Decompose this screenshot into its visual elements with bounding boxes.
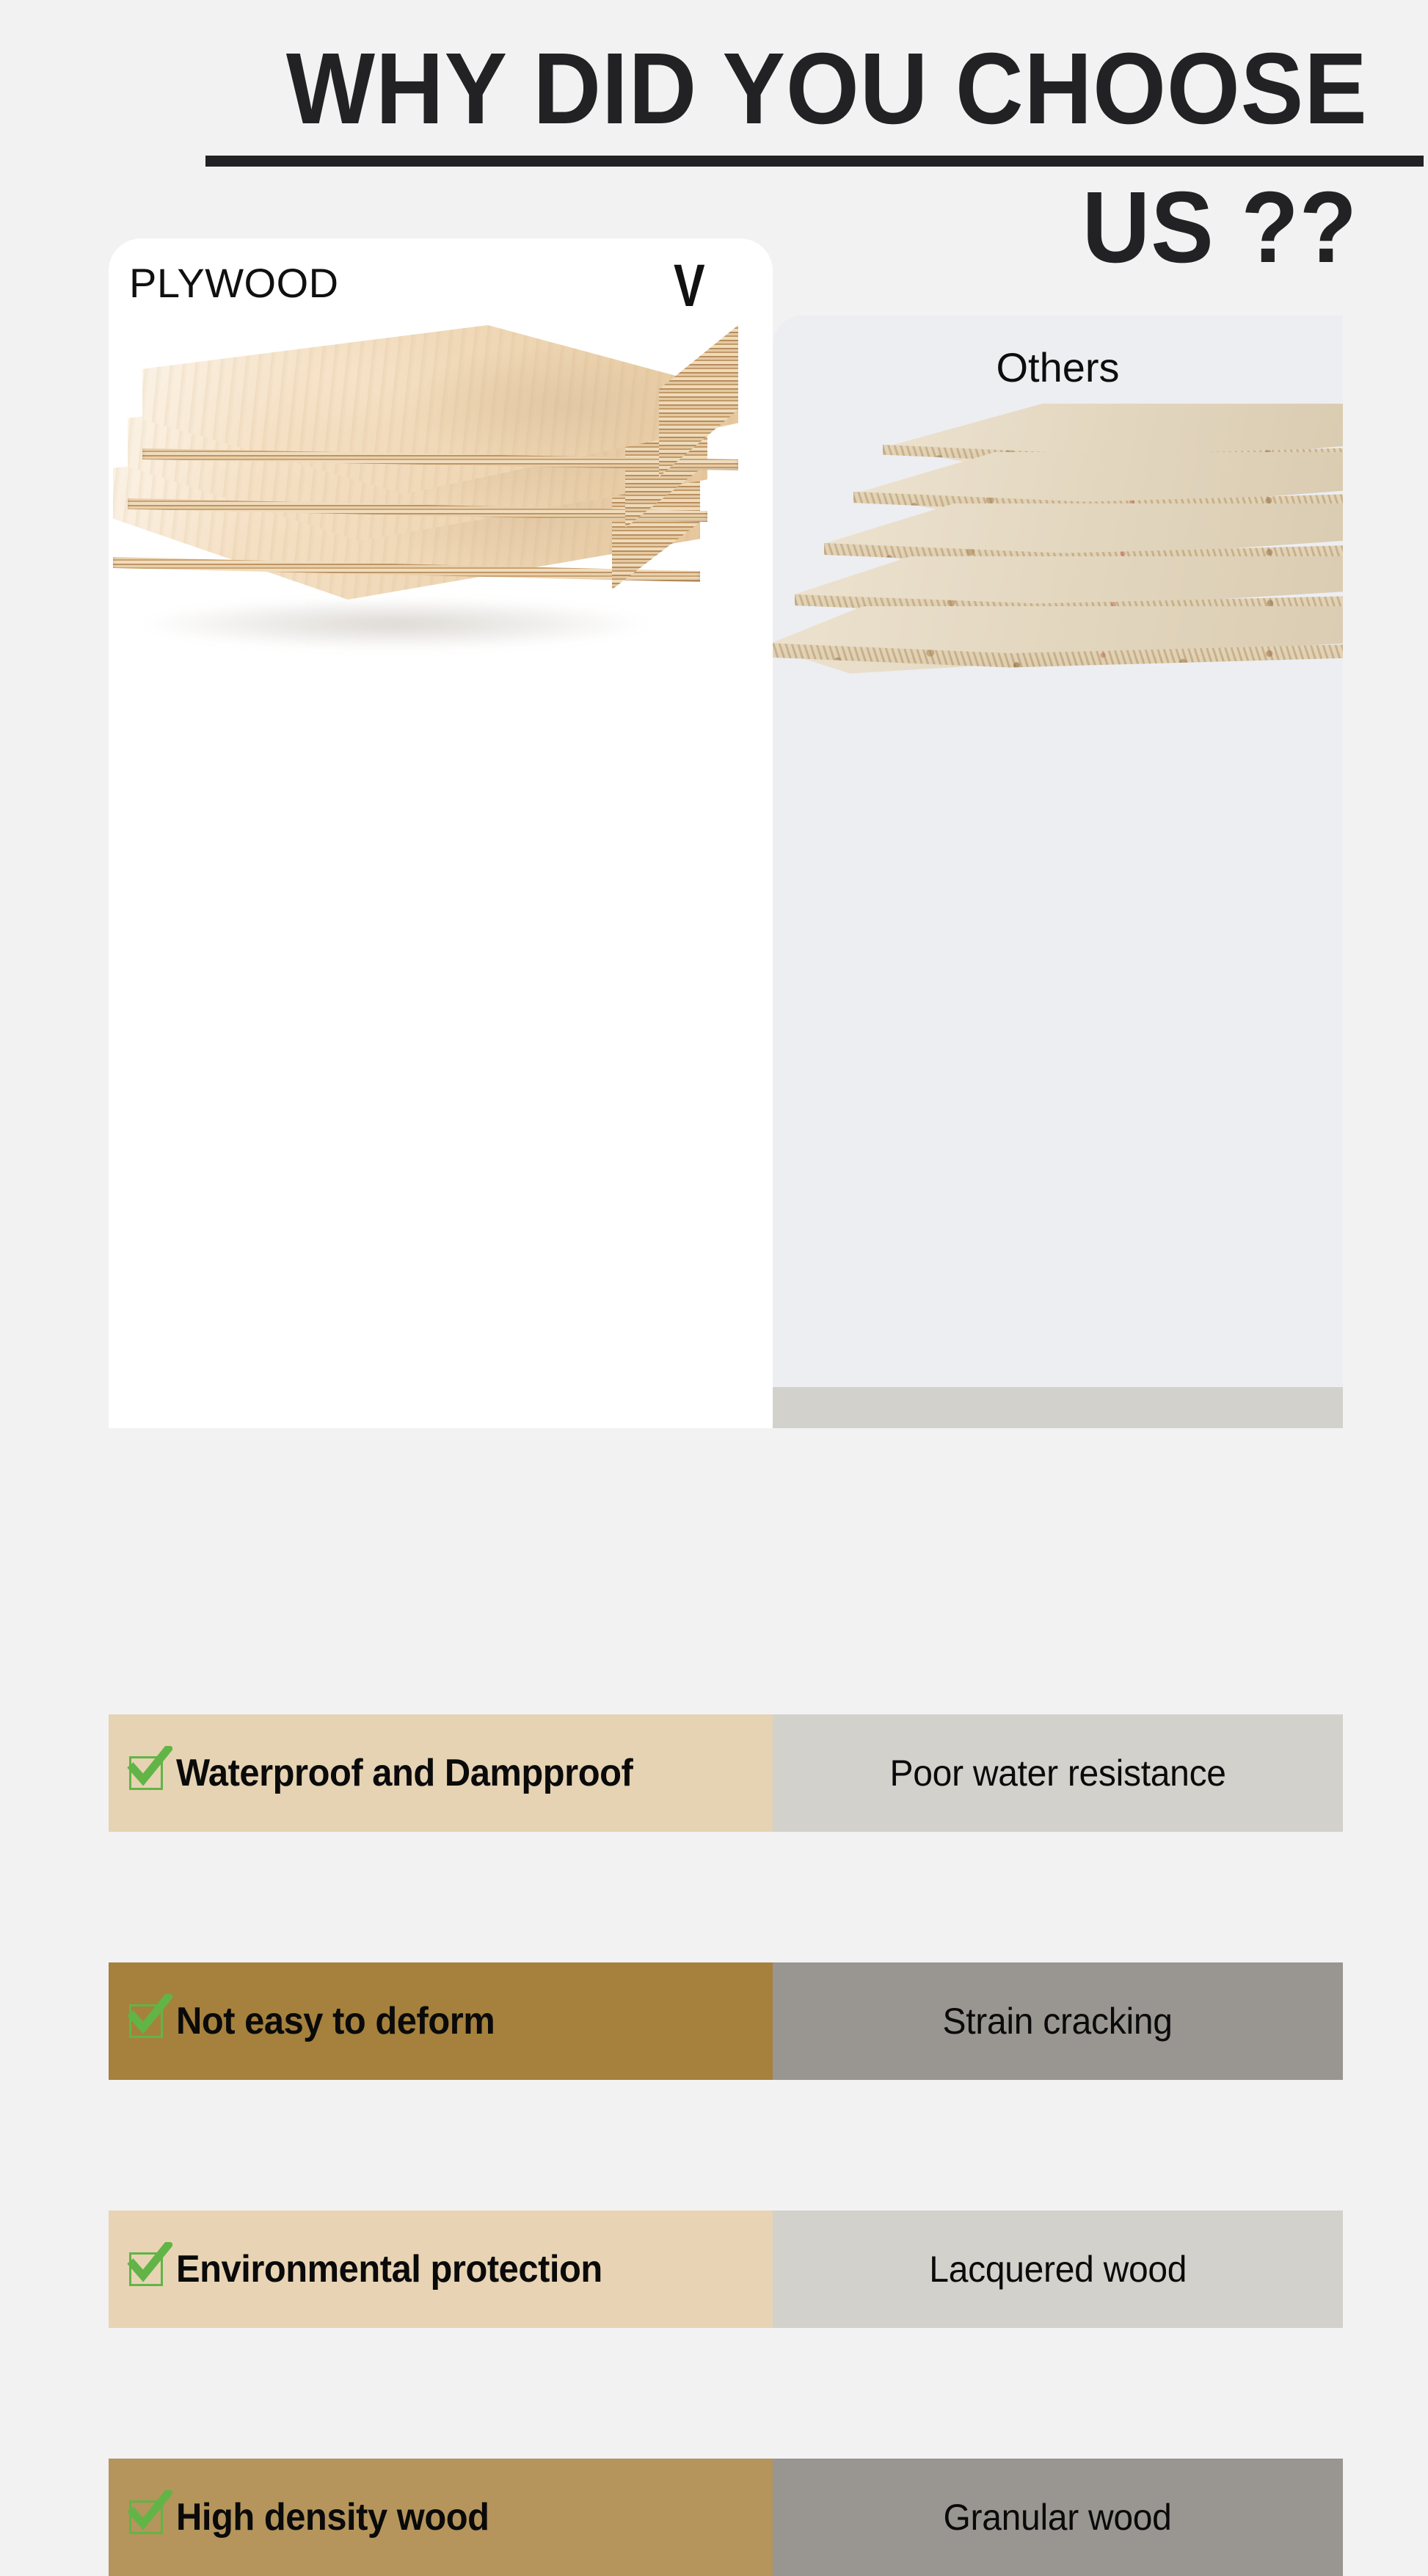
particleboard-product-photo [773,404,1343,771]
row-1-others-cell: Poor water resistance [773,1714,1343,1832]
check-icon [129,1756,163,1790]
chevron-down-icon: V [674,262,705,310]
plywood-photo-shadow [138,598,652,650]
plywood-label: PLYWOOD [129,259,339,307]
particleboard-layer-5 [773,606,1343,731]
plywood-product-photo [109,319,773,697]
row-4-others-cell: Granular wood [773,2459,1343,2576]
plywood-card: PLYWOOD V [109,239,773,1428]
row-4-plywood-text: High density wood [176,2495,489,2539]
others-panel: Others [773,316,1343,1428]
check-icon [129,2252,163,2286]
row-1-plywood-text: Waterproof and Dampproof [176,1751,633,1795]
row-3-others-text: Lacquered wood [929,2248,1187,2291]
check-icon [129,2004,163,2038]
row-3-plywood-text: Environmental protection [176,2247,602,2291]
row-2-others-cell: Strain cracking [773,1962,1343,2080]
row-4-plywood-cell: High density wood [109,2459,773,2576]
row-1-plywood-cell: Waterproof and Dampproof [109,1714,773,1832]
row-4-others-text: Granular wood [944,2496,1172,2539]
plywood-board-top [142,325,738,494]
row-2-plywood-cell: Not easy to deform [109,1962,773,2080]
poster-canvas: WHY DID YOU CHOOSE US ?? PLYWOOD V [0,0,1428,1428]
headline-line-1: WHY DID YOU CHOOSE [286,35,1358,142]
others-label: Others [773,343,1343,391]
headline-underline [205,156,1424,167]
row-2-plywood-text: Not easy to deform [176,1999,495,2043]
row-1-others-text: Poor water resistance [889,1752,1225,1794]
check-icon [129,2500,163,2534]
row-3-plywood-cell: Environmental protection [109,2211,773,2328]
row-3-others-cell: Lacquered wood [773,2211,1343,2328]
row-2-others-text: Strain cracking [943,2000,1173,2042]
